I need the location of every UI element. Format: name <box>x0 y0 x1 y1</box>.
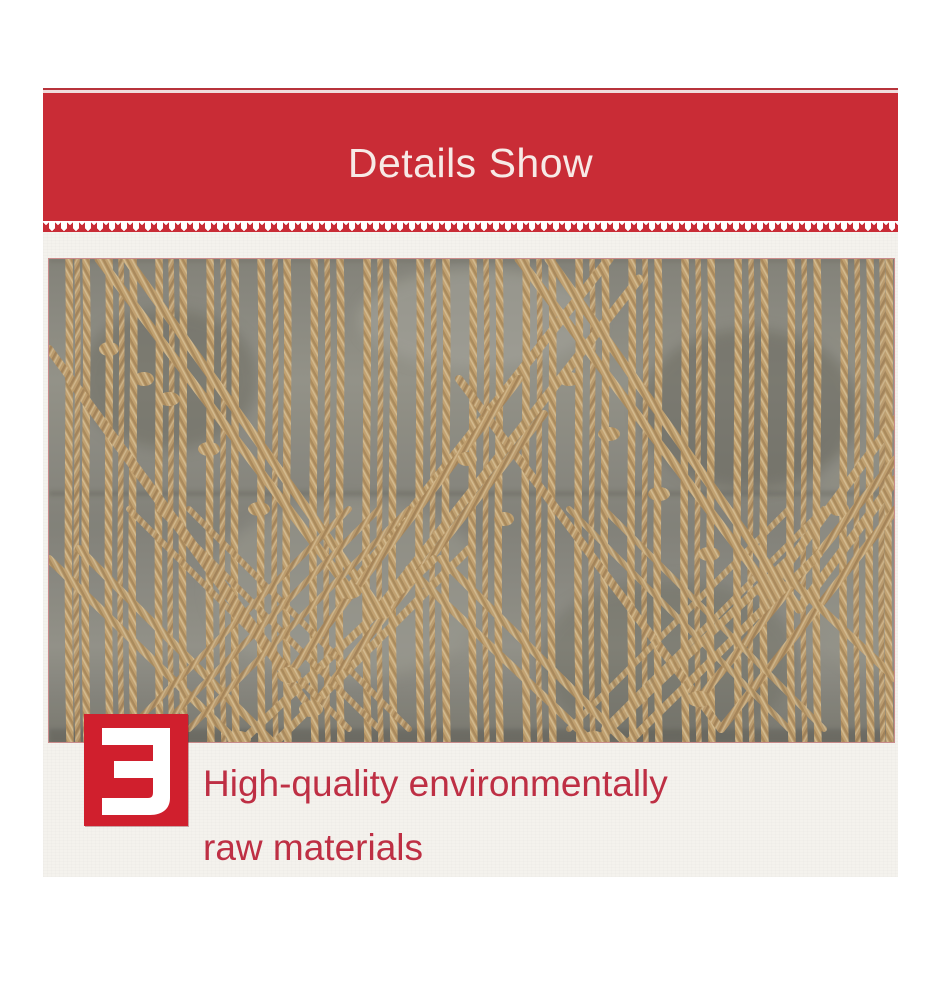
details-show-banner: Details Show <box>43 88 898 238</box>
banner-body: Details Show <box>43 93 898 221</box>
brand-logo-mark <box>84 714 188 826</box>
rope-curtain-illustration <box>49 259 894 742</box>
caption-line-1: High-quality environmentally <box>203 752 843 816</box>
product-detail-page: Details Show <box>0 0 950 1001</box>
caption-line-2: raw materials <box>203 816 843 880</box>
reversed-e-icon <box>84 714 188 826</box>
caption-text: High-quality environmentally raw materia… <box>203 752 843 880</box>
detail-photo-frame <box>48 258 895 743</box>
page-title: Details Show <box>43 143 898 184</box>
rope-curtain-photo <box>49 259 894 742</box>
